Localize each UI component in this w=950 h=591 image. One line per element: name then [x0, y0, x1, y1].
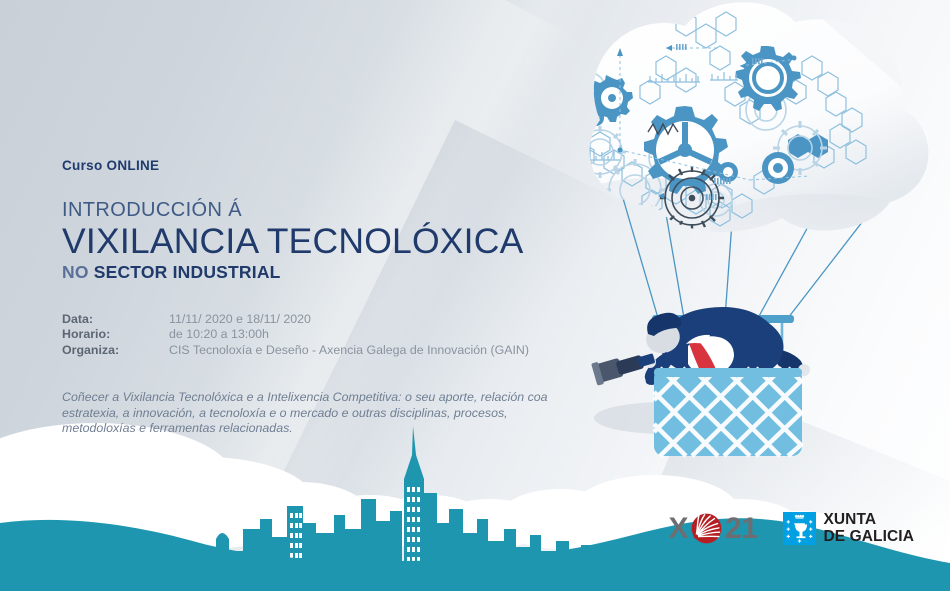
- woven-basket-icon: [654, 368, 802, 456]
- detail-row: Data: 11/11/ 2020 e 18/11/ 2020: [62, 312, 582, 327]
- detail-label-horario: Horario:: [62, 327, 169, 342]
- xunta-line-2: DE GALICIA: [823, 529, 914, 545]
- detail-row: Organiza: CIS Tecnoloxía e Deseño - Axen…: [62, 343, 582, 358]
- scallop-shell-icon: [691, 513, 722, 544]
- detail-label-organiza: Organiza:: [62, 343, 169, 358]
- detail-label-data: Data:: [62, 312, 169, 327]
- title-prefix: INTRODUCCIÓN Á: [62, 200, 582, 221]
- logo-x21: X 21: [669, 513, 758, 544]
- poster-text-block: Curso ONLINE INTRODUCCIÓN Á VIXILANCIA T…: [62, 158, 582, 449]
- xunta-wordmark: XUNTA DE GALICIA: [823, 512, 914, 544]
- x21-letter: X: [669, 514, 689, 544]
- course-kicker: Curso ONLINE: [62, 158, 582, 173]
- detail-row: Horario: de 10:20 a 13:00h: [62, 327, 582, 342]
- detail-value-organiza: CIS Tecnoloxía e Deseño - Axencia Galega…: [169, 343, 529, 358]
- detail-value-data: 11/11/ 2020 e 18/11/ 2020: [169, 312, 311, 327]
- detail-value-horario: de 10:20 a 13:00h: [169, 327, 269, 342]
- title-subtitle: NO SECTOR INDUSTRIAL: [62, 263, 582, 282]
- logo-bar: X 21: [669, 512, 914, 545]
- title-subtitle-bold: SECTOR INDUSTRIAL: [94, 262, 281, 282]
- xunta-line-1: XUNTA: [823, 512, 914, 528]
- x21-number: 21: [725, 514, 757, 544]
- logo-xunta: XUNTA DE GALICIA: [783, 512, 914, 545]
- galicia-coat-of-arms-icon: [783, 512, 816, 545]
- poster-canvas: Curso ONLINE INTRODUCCIÓN Á VIXILANCIA T…: [0, 0, 950, 591]
- course-details: Data: 11/11/ 2020 e 18/11/ 2020 Horario:…: [62, 312, 582, 358]
- title-subtitle-prefix: NO: [62, 262, 94, 282]
- course-description: Coñecer a Vixilancia Tecnolóxica e a Int…: [62, 390, 567, 437]
- page-title: VIXILANCIA TECNOLÓXICA: [62, 222, 582, 262]
